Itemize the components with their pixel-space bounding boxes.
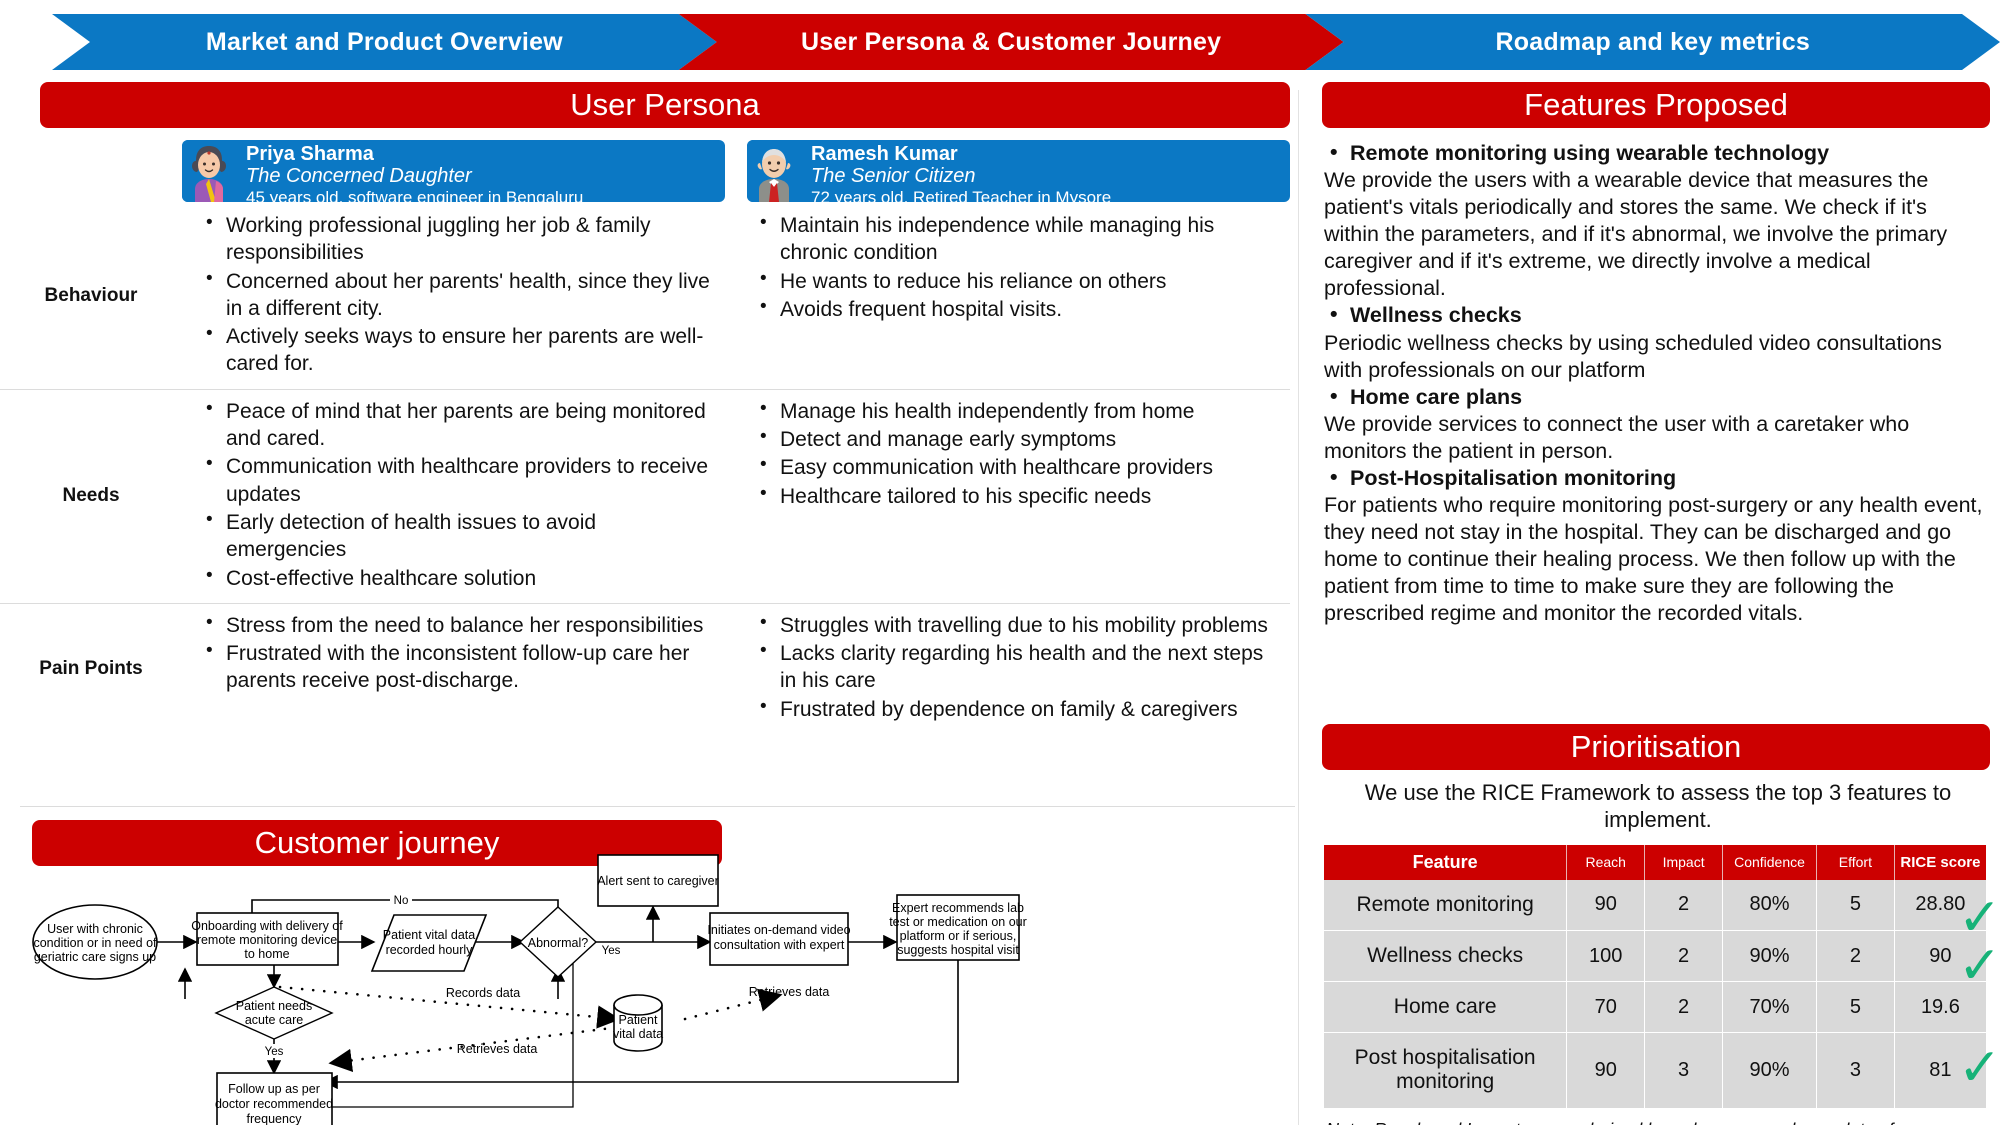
persona-card-ramesh: Ramesh Kumar The Senior Citizen 72 years… [747,140,1290,202]
table-row: Post hospitalisation monitoring 90 3 90%… [1324,1033,1986,1108]
svg-text:Follow up as per: Follow up as per [228,1082,320,1096]
persona-meta: 45 years old, software engineer in Benga… [246,188,583,202]
cell-feature: Wellness checks [1324,931,1567,982]
cell-impact: 2 [1645,880,1723,931]
features-list: Remote monitoring using wearable technol… [1324,140,1986,627]
cell-impact: 2 [1645,982,1723,1033]
list-item: Struggles with travelling due to his mob… [750,612,1276,639]
persona-row-label: Behaviour [0,204,182,389]
section-title: User Persona [570,87,760,123]
persona-name: Ramesh Kumar [811,143,1111,165]
cell-reach: 70 [1567,982,1645,1033]
persona-role: The Concerned Daughter [246,165,583,187]
table-row: Home care 70 2 70% 5 19.6 [1324,982,1986,1033]
list-item: Easy communication with healthcare provi… [750,454,1276,481]
progress-banner: Market and Product Overview User Persona… [0,14,2000,70]
svg-text:suggests hospital visit: suggests hospital visit [897,943,1019,957]
svg-text:Initiates on-demand video: Initiates on-demand video [707,923,850,937]
prioritisation-subtitle: We use the RICE Framework to assess the … [1334,780,1982,834]
svg-text:Yes: Yes [602,945,621,957]
cell-reach: 90 [1567,1033,1645,1108]
svg-text:to home: to home [244,947,289,961]
left-column: User Persona [0,82,1295,1125]
banner-step-market-overview[interactable]: Market and Product Overview [52,14,717,70]
col-header-reach: Reach [1567,845,1645,880]
list-item: Detect and manage early symptoms [750,426,1276,453]
persona-card-list: Priya Sharma The Concerned Daughter 45 y… [182,140,1290,202]
banner-step-label: Roadmap and key metrics [1496,28,1810,57]
svg-text:Patient vital data: Patient vital data [383,928,475,942]
list-item: Actively seeks ways to ensure her parent… [196,323,722,378]
svg-text:Yes: Yes [265,1046,284,1058]
section-header-prioritisation: Prioritisation [1322,724,1990,770]
col-header-confidence: Confidence [1723,845,1817,880]
banner-step-user-persona-journey[interactable]: User Persona & Customer Journey [679,14,1344,70]
svg-text:vital data: vital data [613,1027,663,1041]
persona-name: Priya Sharma [246,143,583,165]
list-item: Frustrated with the inconsistent follow-… [196,640,722,695]
right-column: Features Proposed Remote monitoring usin… [1310,82,2000,1125]
table-header-row: Feature Reach Impact Confidence Effort R… [1324,845,1986,880]
section-header-user-persona: User Persona [40,82,1290,128]
flow-label-records-data: Records data [446,986,520,1000]
cell-effort: 5 [1816,982,1894,1033]
persona-cell-ramesh-behaviour: Maintain his independence while managing… [736,204,1290,389]
feature-title: Remote monitoring using wearable technol… [1324,140,1986,167]
list-item: Avoids frequent hospital visits. [750,296,1276,323]
svg-text:doctor recommended: doctor recommended [215,1097,333,1111]
cell-reach: 100 [1567,931,1645,982]
list-item: Maintain his independence while managing… [750,212,1276,267]
list-item: Frustrated by dependence on family & car… [750,696,1276,723]
svg-text:Onboarding with delivery of: Onboarding with delivery of [191,919,343,933]
col-header-rice-score: RICE score [1894,845,1986,880]
banner-step-roadmap-metrics[interactable]: Roadmap and key metrics [1306,14,2000,70]
cell-effort: 5 [1816,880,1894,931]
feature-title: Wellness checks [1324,302,1986,329]
list-item: Lacks clarity regarding his health and t… [750,640,1276,695]
svg-text:geriatric care signs up: geriatric care signs up [34,950,156,964]
svg-text:remote monitoring device: remote monitoring device [197,933,337,947]
svg-text:User with chronic: User with chronic [47,922,143,936]
table-row: Wellness checks 100 2 90% 2 90 [1324,931,1986,982]
cell-confidence: 90% [1723,1033,1817,1108]
cell-confidence: 90% [1723,931,1817,982]
persona-row-needs: Needs Peace of mind that her parents are… [0,390,1290,604]
cell-impact: 3 [1645,1033,1723,1108]
section-header-features-proposed: Features Proposed [1322,82,1990,128]
cell-feature: Home care [1324,982,1567,1033]
persona-cell-priya-needs: Peace of mind that her parents are being… [182,390,736,603]
persona-row-behaviour: Behaviour Working professional juggling … [0,204,1290,390]
col-header-effort: Effort [1816,845,1894,880]
cell-effort: 2 [1816,931,1894,982]
svg-text:Expert recommends lab: Expert recommends lab [892,901,1024,915]
check-icon: ✓ [1958,1042,2000,1094]
list-item: Working professional juggling her job & … [196,212,722,267]
svg-text:Patient needs: Patient needs [236,999,312,1013]
list-item: He wants to reduce his reliance on other… [750,268,1276,295]
svg-text:platform or if serious,: platform or if serious, [900,929,1017,943]
svg-text:recorded hourly: recorded hourly [386,943,474,957]
woman-avatar-icon [182,140,236,202]
cell-effort: 3 [1816,1033,1894,1108]
persona-row-label: Needs [0,390,182,603]
rice-table-note: Note: Reach and Impact scores derived ba… [1326,1120,1986,1125]
table-row: Remote monitoring 90 2 80% 5 28.80 [1324,880,1986,931]
svg-text:test or medication on our: test or medication on our [889,915,1027,929]
list-item: Stress from the need to balance her resp… [196,612,722,639]
list-item: Peace of mind that her parents are being… [196,398,722,453]
section-title: Prioritisation [1571,729,1742,765]
persona-role: The Senior Citizen [811,165,1111,187]
cell-impact: 2 [1645,931,1723,982]
cell-reach: 90 [1567,880,1645,931]
list-item: Concerned about her parents' health, sin… [196,268,722,323]
svg-text:Patient: Patient [619,1013,658,1027]
persona-row-label: Pain Points [0,604,182,734]
cell-confidence: 70% [1723,982,1817,1033]
rice-score-table: Feature Reach Impact Confidence Effort R… [1324,845,1986,1109]
banner-step-label: User Persona & Customer Journey [801,28,1221,57]
list-item: Cost-effective healthcare solution [196,565,722,592]
feature-body: For patients who require monitoring post… [1324,492,1986,627]
svg-text:acute care: acute care [245,1013,303,1027]
persona-meta: 72 years old, Retired Teacher in Mysore [811,188,1111,202]
customer-journey-section: Customer journey [20,806,1295,1125]
feature-body: We provide services to connect the user … [1324,411,1986,465]
persona-cell-priya-behaviour: Working professional juggling her job & … [182,204,736,389]
svg-text:Alert sent to caregiver: Alert sent to caregiver [597,874,719,888]
svg-text:condition or in need of: condition or in need of [33,936,157,950]
list-item: Healthcare tailored to his specific need… [750,483,1276,510]
check-icon: ✓ [1958,940,2000,992]
feature-title: Home care plans [1324,384,1986,411]
svg-text:No: No [394,895,409,907]
feature-title: Post-Hospitalisation monitoring [1324,465,1986,492]
cell-confidence: 80% [1723,880,1817,931]
svg-text:Abnormal?: Abnormal? [528,936,588,950]
man-avatar-icon [747,140,801,202]
svg-text:consultation with expert: consultation with expert [714,938,845,952]
flow-label-retrieves-left: Retrieves data [457,1042,538,1056]
banner-step-label: Market and Product Overview [206,28,563,57]
feature-body: Periodic wellness checks by using schedu… [1324,330,1986,384]
cell-feature: Post hospitalisation monitoring [1324,1033,1567,1108]
list-item: Communication with healthcare providers … [196,453,722,508]
persona-cell-ramesh-needs: Manage his health independently from hom… [736,390,1290,603]
flow-label-retrieves-right: Retrieves data [749,985,830,999]
persona-cell-ramesh-pain-points: Struggles with travelling due to his mob… [736,604,1290,734]
col-header-impact: Impact [1645,845,1723,880]
column-divider [1298,90,1299,1125]
feature-body: We provide the users with a wearable dev… [1324,167,1986,302]
list-item: Manage his health independently from hom… [750,398,1276,425]
col-header-feature: Feature [1324,845,1567,880]
cell-feature: Remote monitoring [1324,880,1567,931]
section-title: Features Proposed [1524,87,1788,123]
svg-text:frequency: frequency [247,1112,303,1125]
persona-comparison-table: Behaviour Working professional juggling … [0,204,1290,734]
persona-cell-priya-pain-points: Stress from the need to balance her resp… [182,604,736,734]
customer-journey-flowchart: User with chronic condition or in need o… [20,847,1295,1125]
persona-card-priya: Priya Sharma The Concerned Daughter 45 y… [182,140,725,202]
persona-row-pain-points: Pain Points Stress from the need to bala… [0,604,1290,734]
list-item: Early detection of health issues to avoi… [196,509,722,564]
